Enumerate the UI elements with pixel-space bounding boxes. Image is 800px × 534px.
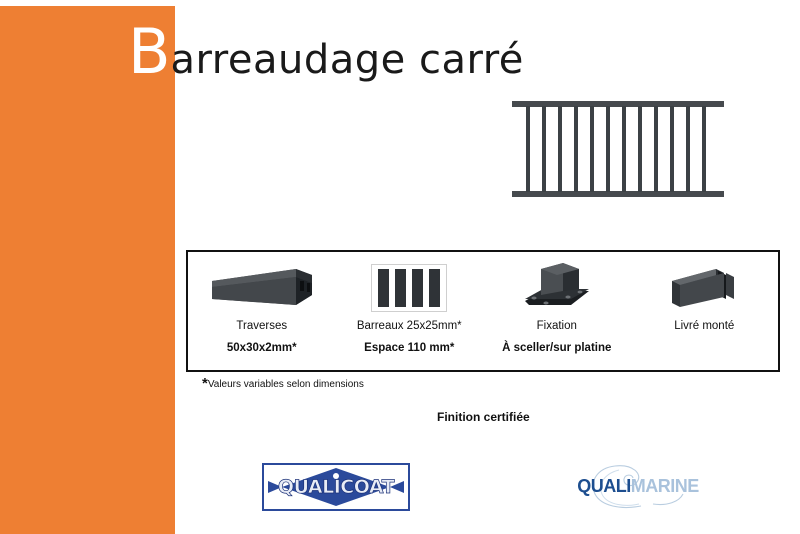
footnote: *Valeurs variables selon dimensions [202,379,364,390]
specifications-box: Traverses 50x30x2mm* Barreaux 25x25mm* E… [186,250,780,372]
railing-picket [590,106,594,192]
stacked-profiles-icon [668,259,740,317]
spec-item-livre-monte-title: Livré monté [674,320,734,332]
spec-item-fixation: Fixation À sceller/sur platine [483,252,631,370]
barreau-bar [429,269,440,307]
railing-picket [606,106,610,192]
railing-picket [670,106,674,192]
barreau-bar [412,269,423,307]
qualimarine-logo: QUALIMARINE [563,458,713,514]
qualicoat-logo-text: QUALICOAT [278,476,394,498]
spec-item-barreaux-sub: Espace 110 mm* [364,342,454,354]
railing-picket [686,106,690,192]
qualimarine-logo-text-part1: QUALI [577,476,631,496]
post-base-plate-icon [521,259,593,317]
railing-picket [638,106,642,192]
spec-item-traverses: Traverses 50x30x2mm* [188,252,336,370]
qualicoat-logo: QUALICOAT [262,463,410,511]
railing-picket [558,106,562,192]
spec-item-barreaux-title: Barreaux 25x25mm* [357,320,462,332]
railing-picket [622,106,626,192]
spec-item-fixation-title: Fixation [537,320,577,332]
page-title-initial: B [128,24,171,80]
spec-item-barreaux: Barreaux 25x25mm* Espace 110 mm* [336,252,484,370]
footnote-text: Valeurs variables selon dimensions [208,379,364,390]
spec-item-livre-monte: Livré monté [631,252,779,370]
product-sheet-page: Al Acier 4 mm* Assemblage pa [0,0,800,534]
spec-item-traverses-sub: 50x30x2mm* [227,342,297,354]
page-title-rest: arreaudage carré [171,42,524,78]
barreaux-bars-icon [371,259,447,317]
page-title: Barreaudage carré [128,24,524,80]
railing-picket [654,106,658,192]
certification-heading: Finition certifiée [437,410,530,424]
spec-item-fixation-sub: À sceller/sur platine [502,342,611,354]
qualimarine-logo-text-part2: MARINE [631,476,699,496]
railing-picket [542,106,546,192]
traverse-profile-icon [208,259,316,317]
railing-picket [702,106,706,192]
spec-item-traverses-title: Traverses [236,320,287,332]
railing-picket [574,106,578,192]
barreau-bar [378,269,389,307]
railing-picket [526,106,530,192]
barreau-bar [395,269,406,307]
square-baluster-railing [512,101,724,197]
